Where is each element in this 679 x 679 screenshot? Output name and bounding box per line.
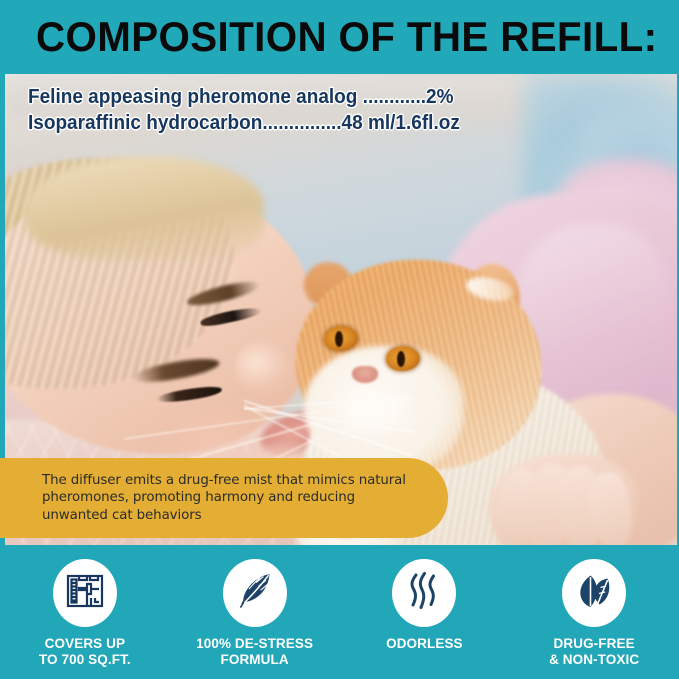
composition-line-2: Isoparaffinic hydrocarbon...............…	[28, 110, 522, 136]
feature-drugfree: DRUG-FREE & NON-TOXIC	[509, 559, 679, 668]
composition-list: Feline appeasing pheromone analog ......…	[28, 84, 548, 136]
feature-label-coverage: COVERS UP TO 700 SQ.FT.	[39, 636, 131, 668]
product-infographic: COMPOSITION OF THE REFILL: Feline appeas…	[0, 0, 679, 679]
feature-destress: 100% DE-STRESS FORMULA	[170, 559, 340, 668]
feature-odorless: ODORLESS	[340, 559, 510, 652]
callout-banner: The diffuser emits a drug-free mist that…	[0, 458, 448, 538]
feature-label-drugfree: DRUG-FREE & NON-TOXIC	[549, 636, 639, 668]
feature-label-destress: 100% DE-STRESS FORMULA	[196, 636, 313, 668]
woman-hair-top	[24, 156, 264, 261]
feature-badge-destress	[223, 559, 287, 627]
two-leaves-icon	[573, 571, 615, 616]
feature-badge-drugfree	[562, 559, 626, 627]
feature-badge-odorless	[392, 559, 456, 627]
composition-line-1: Feline appeasing pheromone analog ......…	[28, 84, 522, 110]
feature-label-odorless: ODORLESS	[386, 636, 463, 652]
feature-bar: COVERS UP TO 700 SQ.FT. 100% DE-STRESS F…	[0, 545, 679, 679]
feature-coverage: COVERS UP TO 700 SQ.FT.	[0, 559, 170, 668]
cat-pupil-left	[335, 331, 343, 347]
feather-icon	[235, 571, 275, 616]
callout-text: The diffuser emits a drug-free mist that…	[42, 472, 418, 525]
page-title: COMPOSITION OF THE REFILL:	[36, 13, 657, 61]
floor-plan-icon	[65, 572, 105, 615]
vapor-waves-icon	[405, 571, 443, 616]
feature-badge-coverage	[53, 559, 117, 627]
header-band: COMPOSITION OF THE REFILL:	[0, 0, 679, 74]
